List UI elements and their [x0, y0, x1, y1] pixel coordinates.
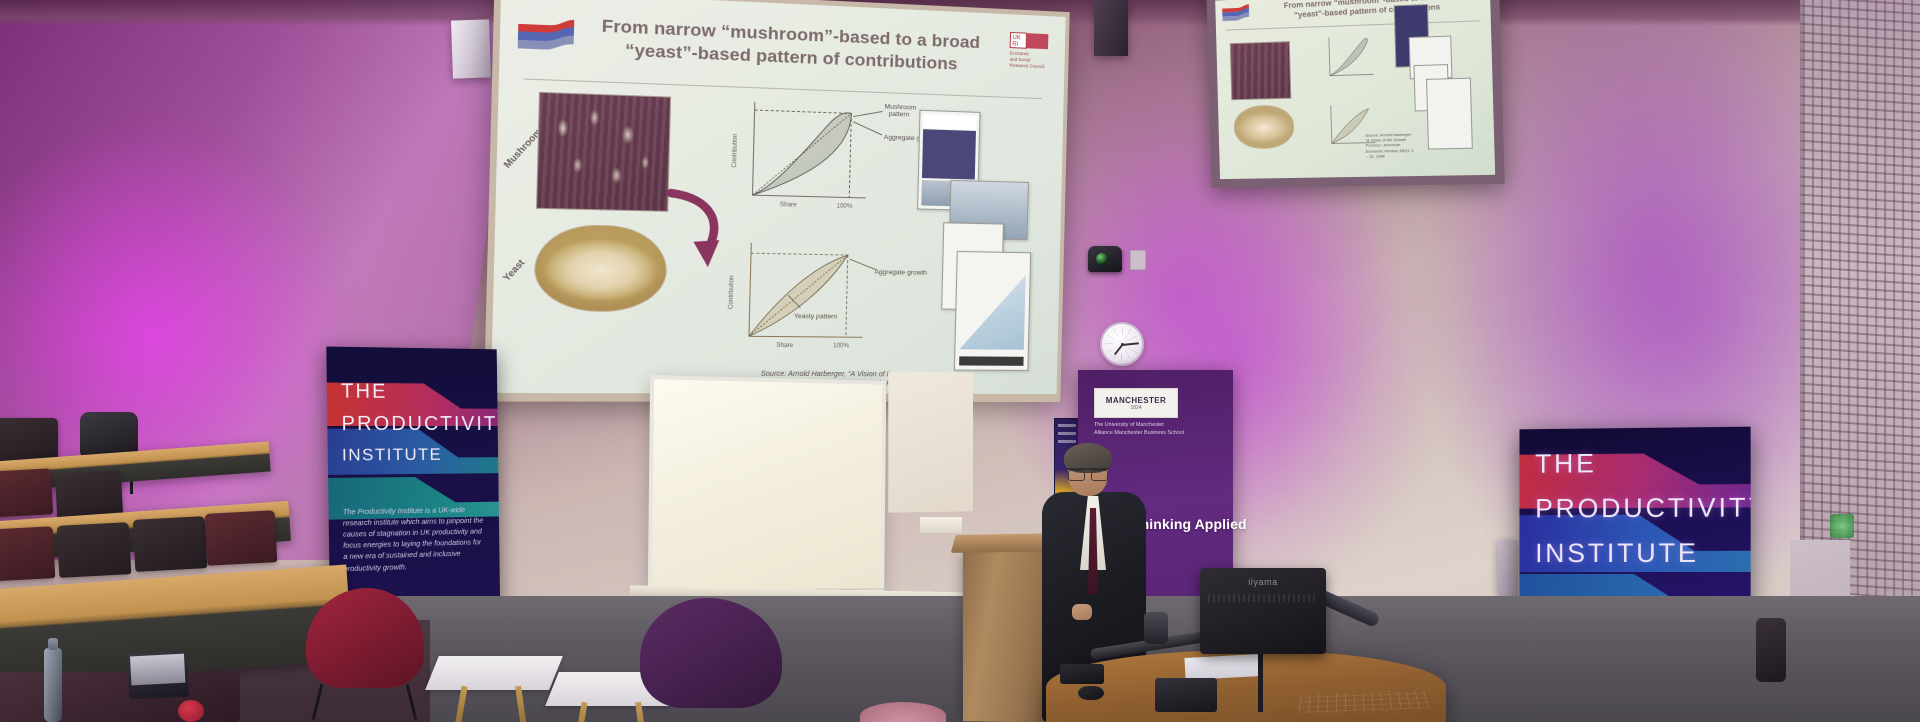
svg-text:RI: RI	[1012, 41, 1018, 48]
tpi-swoosh-logo-secondary	[1221, 3, 1250, 24]
bread-yeast-photo	[533, 224, 667, 313]
esrc-line-1: Economic	[1010, 51, 1030, 57]
lecture-seat	[0, 468, 53, 517]
main-projection-screen: From narrow “mushroom”-based to a broad …	[484, 0, 1070, 402]
esrc-line-3: Research Council	[1010, 63, 1045, 69]
main-slide: From narrow “mushroom”-based to a broad …	[491, 0, 1066, 394]
mouse[interactable]	[1078, 686, 1104, 700]
monitor-stem	[1258, 652, 1263, 712]
monitor: iiyama	[1200, 568, 1326, 654]
secondary-bread-photo	[1233, 105, 1294, 150]
manchester-logo-wordmark: MANCHESTER	[1106, 396, 1166, 405]
aggregate-growth-annotation-bottom: Aggregate growth	[874, 269, 927, 277]
pa-speaker-left	[451, 19, 491, 78]
banner-right-word-institute: INSTITUTE	[1535, 540, 1734, 567]
acoustic-wall-panel	[1800, 0, 1920, 600]
av-device-center	[1155, 678, 1217, 712]
secondary-source-citation: Source: Arnold Harberger, “A Vision of t…	[1365, 132, 1416, 159]
secondary-slide-title: From narrow “mushroom”-based to a broad …	[1254, 0, 1483, 22]
glasses-icon	[1068, 468, 1108, 477]
foreground-desk	[0, 672, 240, 722]
slide-title-row: From narrow “mushroom”-based to a broad …	[499, 1, 1065, 89]
banner-left-blurb: The Productivity Institute is a UK-wide …	[343, 504, 487, 574]
lecture-theatre-scene: From narrow “mushroom”-based to a broad …	[0, 0, 1920, 722]
lecture-seat	[0, 526, 55, 582]
mushroom-chart: Contribution Share 100% Mushroom pattern	[733, 95, 912, 222]
camera-lens-icon	[1096, 253, 1108, 265]
side-table	[432, 656, 562, 722]
manchester-logo-year: 1824	[1130, 405, 1141, 411]
row-label-yeast: Yeast	[501, 257, 527, 283]
banner-left-word-the: THE	[341, 381, 484, 402]
lecture-seat	[205, 510, 278, 566]
banner-left-word-productivity: PRODUCTIVITY	[341, 414, 484, 434]
banner-left-word-institute: INSTITUTE	[342, 446, 485, 464]
pa-speaker-right	[1498, 540, 1518, 596]
secondary-thumbnail-4	[1426, 78, 1473, 150]
ukri-esrc-logo: UK RI Economic and Social Research Counc…	[1009, 30, 1054, 72]
mushroom-photo	[536, 92, 671, 212]
secondary-title-divider	[1226, 20, 1481, 30]
yeasty-pattern-annotation: Yeasty pattern	[794, 313, 838, 321]
microphone-head	[1144, 612, 1168, 644]
lounge-chair-purple	[640, 598, 782, 722]
secondary-mushroom-photo	[1230, 41, 1292, 100]
presenter-hand	[1072, 604, 1092, 620]
secondary-mushroom-chart	[1321, 34, 1382, 84]
water-bottle	[44, 648, 62, 722]
mushroom-annotation-line2: pattern	[889, 111, 910, 119]
transition-arrow-icon	[662, 187, 735, 278]
lounge-chair-red	[306, 588, 424, 722]
mushroom-chart-ylabel: Contribution	[731, 133, 739, 167]
wall-outlet	[919, 516, 963, 534]
foreground-object	[178, 700, 204, 722]
manchester-sub-line-2: Alliance Manchester Business School	[1094, 430, 1212, 438]
pa-speaker-center	[1094, 0, 1128, 56]
slide-title: From narrow “mushroom”-based to a broad …	[575, 14, 1065, 80]
clock-center-dot	[1121, 343, 1124, 346]
exit-sign	[1830, 514, 1854, 538]
manchester-logo-subtitle: The University of Manchester Alliance Ma…	[1094, 422, 1212, 438]
wall-mounted-equipment	[1756, 618, 1786, 682]
esrc-line-2: and Social	[1010, 57, 1031, 63]
secondary-display: From narrow “mushroom”-based to a broad …	[1206, 0, 1504, 188]
whiteboard	[648, 375, 887, 594]
thinking-applied-tagline: Thinking Applied	[1132, 516, 1247, 532]
slide-body: Mushroom Yeast Contribution	[491, 84, 1064, 394]
lecture-seat	[0, 418, 58, 462]
camera-wall-mount	[1130, 250, 1146, 270]
mushroom-chart-xtick-100: 100%	[836, 203, 853, 210]
yeast-chart-xtick-share: Share	[776, 342, 794, 349]
banner-right-word-productivity: PRODUCTIVITY	[1535, 494, 1734, 522]
monitor-vent	[1208, 594, 1318, 602]
yeast-chart-ylabel: Contribution	[727, 275, 735, 309]
yeast-chart-xtick-100: 100%	[833, 342, 850, 349]
av-device-left	[1060, 664, 1104, 684]
yeast-chart: Contribution Yeasty pattern Aggregate gr…	[729, 236, 908, 360]
monitor-brand-label: iiyama	[1248, 577, 1278, 587]
mushroom-chart-xtick-share: Share	[780, 201, 798, 208]
manchester-logo: MANCHESTER 1824	[1094, 388, 1178, 418]
wall-clock	[1100, 322, 1144, 366]
ceiling-camera	[1088, 246, 1122, 272]
slide-deck-thumbnail	[954, 251, 1031, 371]
secondary-slide: From narrow “mushroom”-based to a broad …	[1215, 0, 1495, 179]
banner-right-word-the: THE	[1535, 449, 1734, 478]
tpi-swoosh-logo	[515, 15, 576, 56]
laptop[interactable]	[127, 650, 189, 699]
lecture-seat	[133, 516, 208, 572]
desk-paper	[1184, 654, 1261, 680]
wall-panel	[888, 371, 973, 512]
manchester-sub-line-1: The University of Manchester	[1094, 422, 1212, 430]
lecture-seat	[57, 522, 132, 578]
